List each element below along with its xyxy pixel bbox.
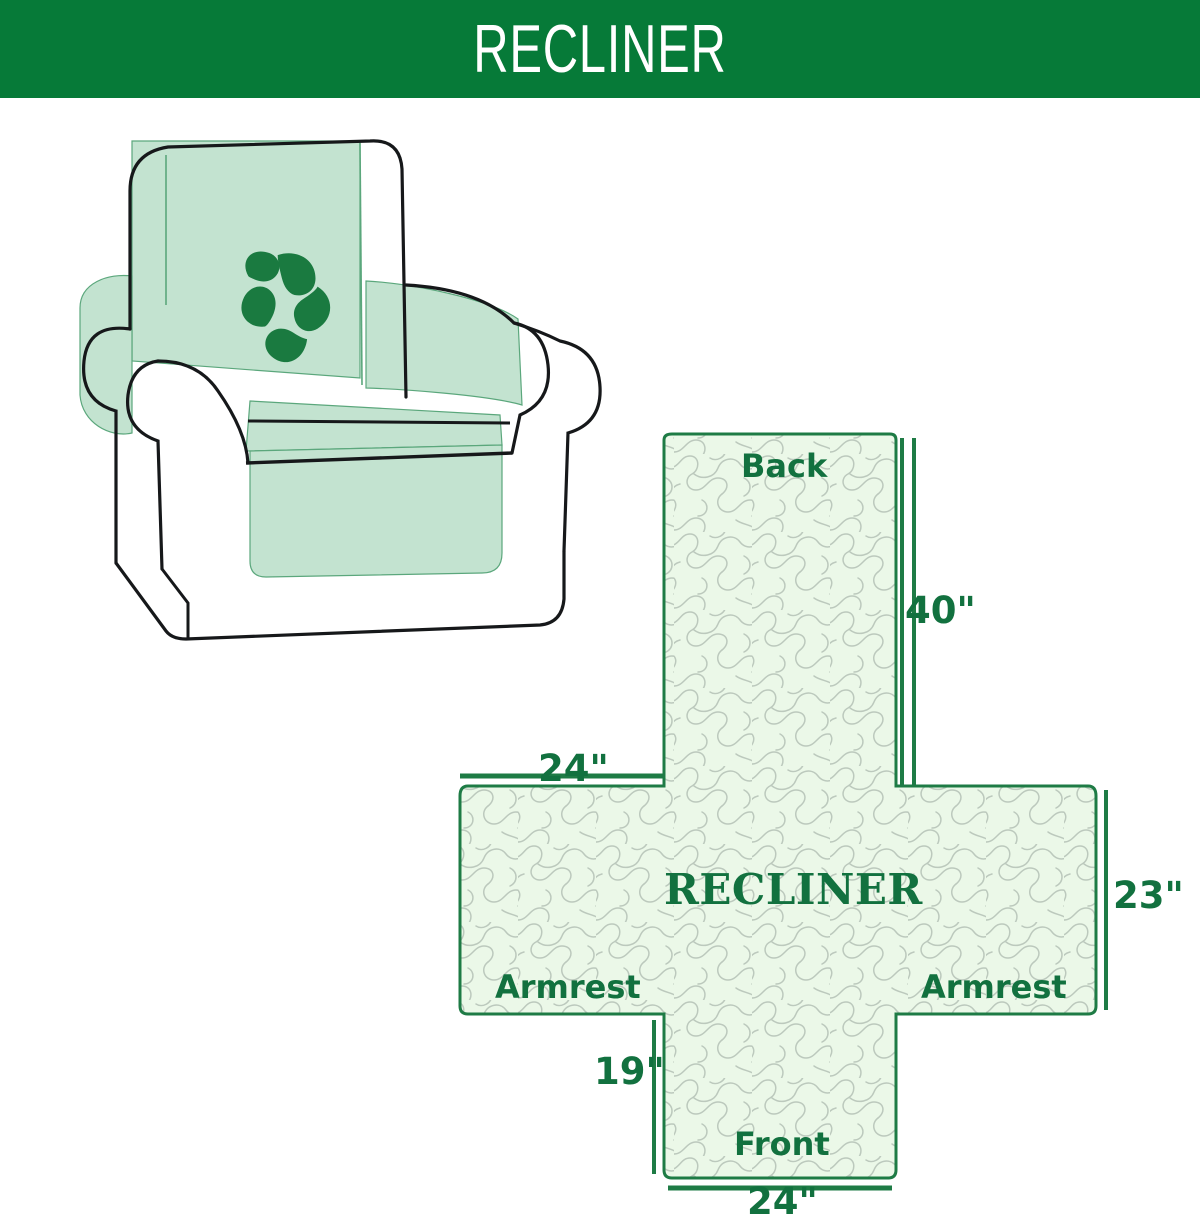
panel-label-armrest-right: Armrest <box>921 971 1067 1003</box>
dimension-label-front-drop: 19" <box>594 1053 665 1090</box>
diagram-stage: Back Armrest Armrest Front RECLINER 40" … <box>0 98 1200 1200</box>
panel-label-armrest-left: Armrest <box>495 971 641 1003</box>
dimension-label-back-width: 24" <box>538 750 609 787</box>
chair-outline-left-arm-roll-edge <box>128 361 162 569</box>
dimension-label-front-width: 24" <box>747 1183 818 1220</box>
cover-cross-outline <box>460 434 1096 1178</box>
dimension-label-back-length: 40" <box>905 592 976 629</box>
header-banner: RECLINER <box>0 0 1200 98</box>
panel-label-back: Back <box>741 450 827 482</box>
page-title: RECLINER <box>473 15 726 83</box>
dimension-label-seat-depth: 23" <box>1113 877 1184 914</box>
chair-cover-left-arm <box>80 275 132 433</box>
chair-outline-left-arm-inner <box>158 361 248 463</box>
panel-label-front: Front <box>734 1128 830 1160</box>
cover-center-label: RECLINER <box>664 869 923 911</box>
